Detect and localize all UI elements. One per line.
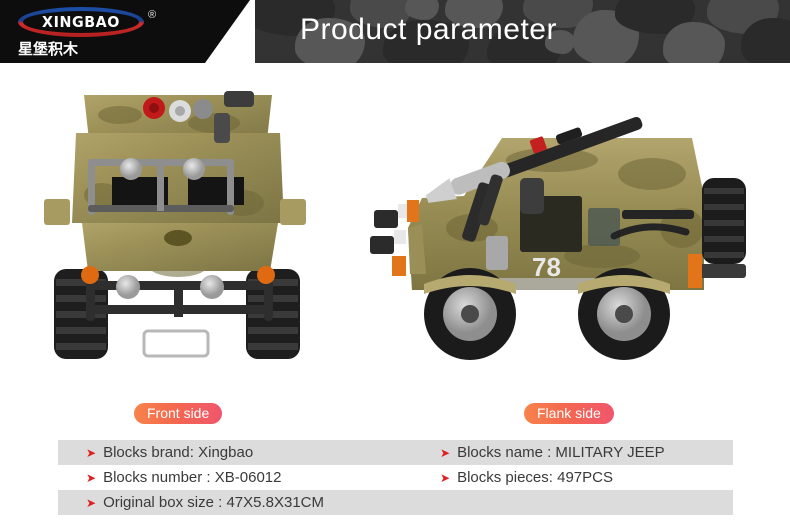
caption-front-side: Front side <box>134 403 222 424</box>
caption-flank-side: Flank side <box>524 403 614 424</box>
arrow-bullet-icon: ➤ <box>86 447 96 459</box>
logo-oval-inner: XINGBAO <box>23 11 139 33</box>
page-title: Product parameter <box>300 13 557 47</box>
arrow-bullet-icon: ➤ <box>86 497 96 509</box>
spec-blocks-number-text: Blocks number : XB-06012 <box>103 469 281 486</box>
table-row: ➤ Original box size : 47X5.8X31CM <box>58 490 733 515</box>
logo-wordmark: XINGBAO <box>42 13 120 31</box>
spec-blocks-number: ➤ Blocks number : XB-06012 <box>58 469 428 486</box>
product-photo-area: 78 <box>0 63 790 393</box>
registered-trademark-icon: ® <box>148 9 156 21</box>
product-image-front-view <box>28 73 328 383</box>
spec-blocks-brand-text: Blocks brand: Xingbao <box>103 444 253 461</box>
brand-chinese-name: 星堡积木 <box>18 38 146 59</box>
spec-blocks-name-text: Blocks name : MILITARY JEEP <box>457 444 665 461</box>
product-spec-table: ➤ Blocks brand: Xingbao ➤ Blocks name : … <box>58 440 733 515</box>
xingbao-logo: XINGBAO ® <box>18 7 144 37</box>
svg-text:78: 78 <box>532 252 561 282</box>
arrow-bullet-icon: ➤ <box>440 447 450 459</box>
page-header: XINGBAO ® 星堡积木 Product parameter <box>0 0 790 63</box>
spec-blocks-name: ➤ Blocks name : MILITARY JEEP <box>428 444 728 461</box>
spec-box-size-text: Original box size : 47X5.8X31CM <box>103 494 324 511</box>
table-row: ➤ Blocks number : XB-06012 ➤ Blocks piec… <box>58 465 733 490</box>
spec-blocks-pieces-text: Blocks pieces: 497PCS <box>457 469 613 486</box>
arrow-bullet-icon: ➤ <box>440 472 450 484</box>
spec-box-size: ➤ Original box size : 47X5.8X31CM <box>58 494 428 511</box>
brand-logo-panel: XINGBAO ® 星堡积木 <box>0 0 250 63</box>
spec-blocks-pieces: ➤ Blocks pieces: 497PCS <box>428 469 728 486</box>
table-row: ➤ Blocks brand: Xingbao ➤ Blocks name : … <box>58 440 733 465</box>
spec-blocks-brand: ➤ Blocks brand: Xingbao <box>58 444 428 461</box>
product-image-flank-view: 78 <box>352 78 767 383</box>
arrow-bullet-icon: ➤ <box>86 472 96 484</box>
